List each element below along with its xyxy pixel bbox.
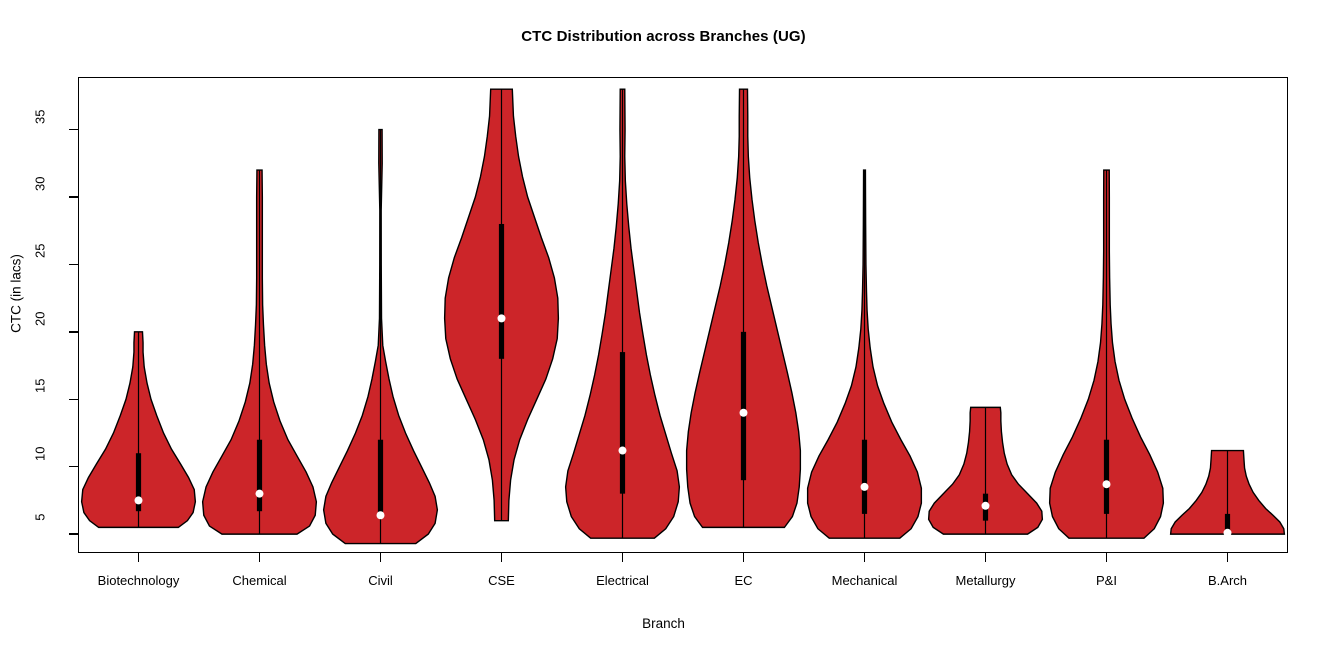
- median-marker: [377, 511, 385, 519]
- median-marker: [740, 409, 748, 417]
- violin-plot-figure: CTC Distribution across Branches (UG) CT…: [0, 0, 1327, 653]
- x-tick-mark: [380, 553, 381, 562]
- iqr-box: [378, 440, 383, 517]
- y-tick-label: 35: [33, 109, 48, 149]
- x-tick-mark: [622, 553, 623, 562]
- iqr-box: [862, 440, 867, 514]
- x-tick-mark: [1227, 553, 1228, 562]
- median-marker: [982, 502, 990, 510]
- y-tick-mark: [69, 331, 78, 332]
- violin-cse: [445, 89, 559, 521]
- y-tick-label: 10: [33, 446, 48, 486]
- iqr-box: [741, 332, 746, 480]
- x-tick-mark: [985, 553, 986, 562]
- y-tick-label: 30: [33, 177, 48, 217]
- violin-ec: [687, 89, 801, 527]
- violin-p-i: [1050, 170, 1164, 538]
- median-marker: [498, 314, 506, 322]
- x-tick-mark: [501, 553, 502, 562]
- violin-electrical: [566, 89, 680, 538]
- iqr-box: [1104, 440, 1109, 514]
- page-title: CTC Distribution across Branches (UG): [0, 28, 1327, 45]
- x-tick-mark: [864, 553, 865, 562]
- x-tick-mark: [259, 553, 260, 562]
- violin-civil: [324, 130, 438, 544]
- violin-b-arch: [1171, 451, 1285, 537]
- y-tick-mark: [69, 399, 78, 400]
- y-axis-label: CTC (in lacs): [9, 234, 24, 354]
- x-axis-label: Branch: [0, 616, 1327, 631]
- median-marker: [861, 483, 869, 491]
- median-marker: [1103, 480, 1111, 488]
- x-tick-mark: [1106, 553, 1107, 562]
- x-tick-mark: [743, 553, 744, 562]
- y-tick-mark: [69, 129, 78, 130]
- y-tick-mark: [69, 196, 78, 197]
- y-tick-label: 5: [33, 514, 48, 554]
- violin-chemical: [203, 170, 317, 534]
- plot-panel: [78, 77, 1288, 553]
- x-tick-mark: [138, 553, 139, 562]
- median-marker: [1224, 529, 1232, 537]
- y-tick-label: 25: [33, 244, 48, 284]
- y-tick-label: 15: [33, 379, 48, 419]
- y-tick-label: 20: [33, 311, 48, 351]
- y-tick-mark: [69, 264, 78, 265]
- y-tick-mark: [69, 466, 78, 467]
- y-tick-mark: [69, 533, 78, 534]
- median-marker: [619, 447, 627, 455]
- iqr-box: [620, 352, 625, 494]
- violin-mechanical: [808, 170, 922, 538]
- median-marker: [256, 490, 264, 498]
- median-marker: [135, 496, 143, 504]
- violin-biotechnology: [82, 332, 196, 528]
- violin-metallurgy: [929, 407, 1043, 534]
- x-tick-label-b-arch: B.Arch: [1148, 573, 1308, 588]
- iqr-box: [499, 224, 504, 359]
- violin-series-group: [78, 77, 1288, 553]
- iqr-box: [257, 440, 262, 511]
